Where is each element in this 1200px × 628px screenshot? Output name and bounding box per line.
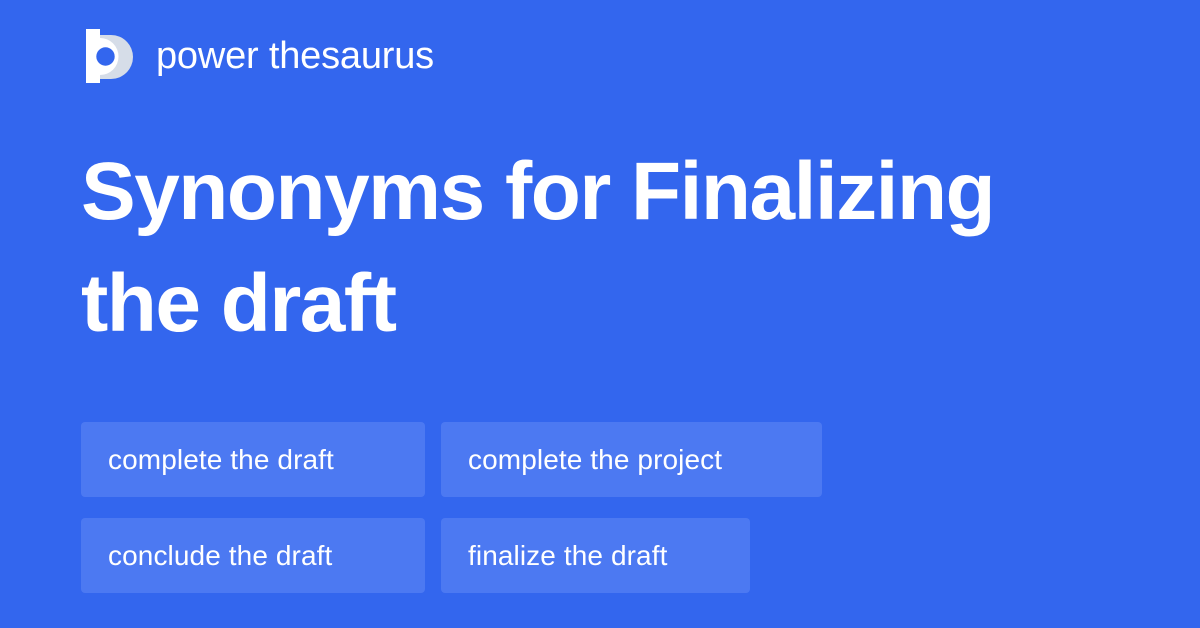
brand-name: power thesaurus <box>156 29 434 83</box>
synonym-chip-label: conclude the draft <box>108 518 332 593</box>
synonym-chip[interactable]: complete the project <box>441 422 822 497</box>
synonym-chip-list: complete the draft complete the project … <box>81 422 1121 593</box>
power-thesaurus-b-logo-icon <box>81 29 133 83</box>
page-title: Synonyms for Finalizing the draft <box>81 136 1081 360</box>
synonym-chip[interactable]: finalize the draft <box>441 518 750 593</box>
synonym-chip[interactable]: conclude the draft <box>81 518 425 593</box>
synonym-chip-label: complete the draft <box>108 422 334 497</box>
page-root: power thesaurus Synonyms for Finalizing … <box>0 0 1200 628</box>
synonym-chip[interactable]: complete the draft <box>81 422 425 497</box>
synonym-chip-label: finalize the draft <box>468 518 667 593</box>
synonym-chip-label: complete the project <box>468 422 722 497</box>
brand-header[interactable]: power thesaurus <box>81 29 434 83</box>
